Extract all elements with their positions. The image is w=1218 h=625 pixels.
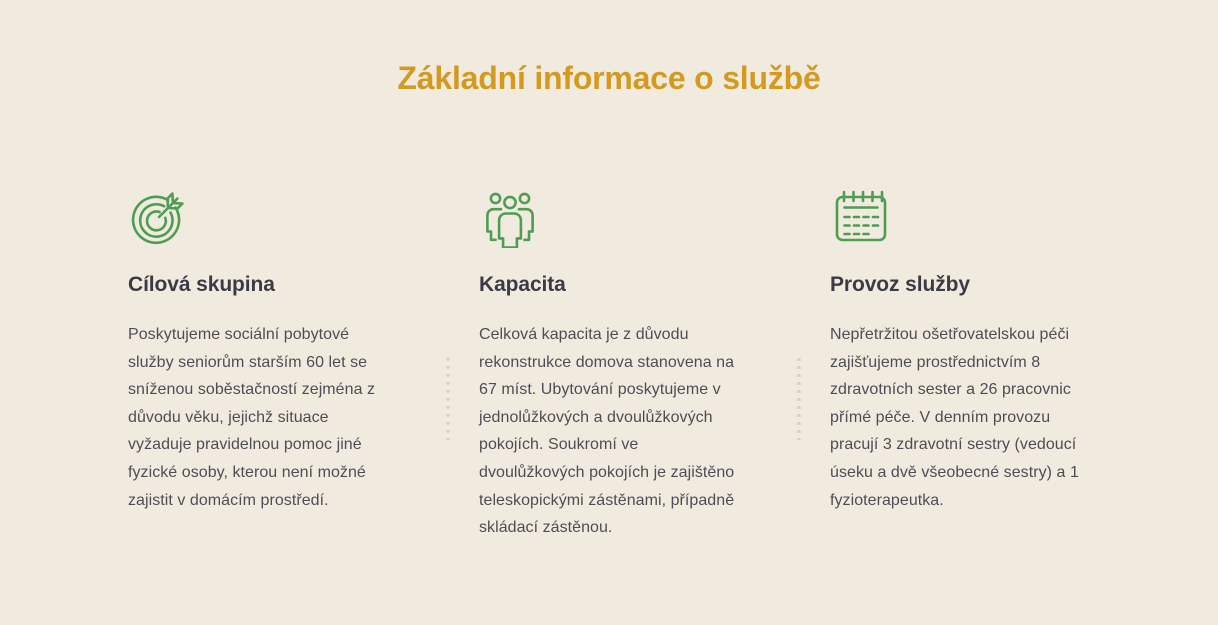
info-section: Základní informace o službě Cílová skupi… [0, 0, 1218, 625]
info-card-kapacita: Kapacita Celková kapacita je z důvodu re… [479, 186, 767, 542]
card-body: Celková kapacita je z důvodu rekonstrukc… [479, 321, 745, 542]
column-gap-1 [416, 186, 479, 542]
target-icon [128, 186, 416, 248]
dotted-divider [446, 358, 449, 440]
card-heading: Cílová skupina [128, 271, 416, 299]
dotted-divider [797, 358, 800, 440]
card-heading: Kapacita [479, 271, 767, 299]
info-card-cilova-skupina: Cílová skupina Poskytujeme sociální poby… [128, 186, 416, 514]
page-title: Základní informace o službě [0, 56, 1218, 100]
info-columns: Cílová skupina Poskytujeme sociální poby… [128, 186, 1118, 542]
info-card-provoz-sluzby: Provoz služby Nepřetržitou ošetřovatelsk… [830, 186, 1118, 514]
card-body: Poskytujeme sociální pobytové služby sen… [128, 321, 394, 514]
card-heading: Provoz služby [830, 271, 1118, 299]
card-body: Nepřetržitou ošetřovatelskou péči zajišť… [830, 321, 1096, 514]
column-gap-2 [767, 186, 830, 542]
people-group-icon [479, 186, 767, 248]
calendar-icon [830, 186, 1118, 248]
